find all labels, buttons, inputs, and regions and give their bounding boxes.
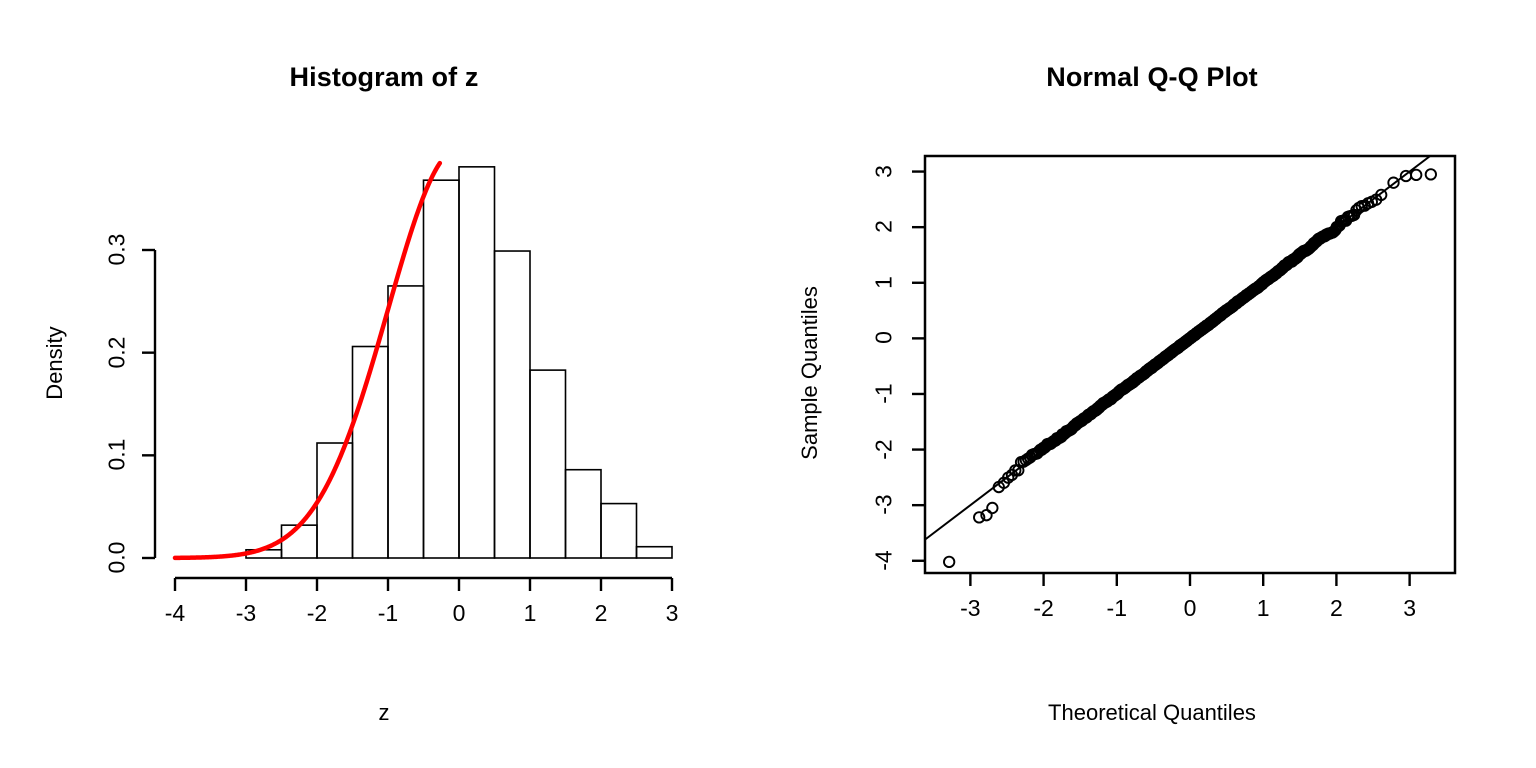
- qq-x-tick-label: -3: [950, 595, 990, 622]
- qq-panel: Normal Q-Q Plot -3-2-10123 3210-1-2-3-4 …: [768, 0, 1536, 768]
- histogram-x-axis-label: z: [0, 700, 768, 726]
- qq-plot-box: [925, 156, 1455, 573]
- histogram-bars: [246, 167, 672, 558]
- histogram-x-tick-label: -3: [226, 600, 266, 627]
- histogram-x-tick-label: -1: [368, 600, 408, 627]
- histogram-y-axis-label: Density: [42, 263, 68, 463]
- histogram-bar: [424, 180, 460, 558]
- histogram-panel: Histogram of z -4-3-2-10123 0.00.10.20.3…: [0, 0, 768, 768]
- histogram-y-tick-label: 0.0: [104, 518, 131, 598]
- qq-point: [1426, 169, 1436, 179]
- qq-x-tick-label: 2: [1316, 595, 1356, 622]
- normal-density-curve: [175, 163, 440, 558]
- histogram-axes: [142, 250, 672, 591]
- histogram-bar: [459, 167, 495, 558]
- qq-y-axis-label: Sample Quantiles: [797, 253, 823, 493]
- histogram-bar: [388, 286, 424, 558]
- histogram-x-tick-label: 1: [510, 600, 550, 627]
- histogram-x-tick-label: 2: [581, 600, 621, 627]
- histogram-y-tick-label: 0.1: [104, 415, 131, 495]
- histogram-bar: [353, 347, 389, 558]
- qq-x-tick-label: -1: [1097, 595, 1137, 622]
- histogram-bar: [601, 504, 637, 558]
- histogram-y-tick-label: 0.3: [104, 210, 131, 290]
- histogram-bar: [530, 370, 566, 558]
- histogram-bar: [495, 251, 531, 558]
- qq-point: [1411, 170, 1421, 180]
- qq-x-tick-label: 0: [1170, 595, 1210, 622]
- histogram-bar: [317, 443, 353, 558]
- histogram-bar: [637, 547, 673, 558]
- qq-x-tick-label: 3: [1390, 595, 1430, 622]
- histogram-x-tick-label: 3: [652, 600, 692, 627]
- qq-data-points: [944, 169, 1436, 567]
- histogram-x-tick-label: -4: [155, 600, 195, 627]
- qq-y-tick-label: -4: [871, 520, 898, 600]
- histogram-x-tick-label: -2: [297, 600, 337, 627]
- qq-x-tick-label: -2: [1024, 595, 1064, 622]
- histogram-y-tick-label: 0.2: [104, 312, 131, 392]
- qq-point: [944, 557, 954, 567]
- qq-point: [987, 503, 997, 513]
- qq-x-tick-label: 1: [1243, 595, 1283, 622]
- histogram-bar: [566, 470, 602, 558]
- histogram-x-tick-label: 0: [439, 600, 479, 627]
- qq-x-axis-label: Theoretical Quantiles: [768, 700, 1536, 726]
- histogram-bar: [282, 525, 318, 558]
- figure-canvas: Histogram of z -4-3-2-10123 0.00.10.20.3…: [0, 0, 1536, 768]
